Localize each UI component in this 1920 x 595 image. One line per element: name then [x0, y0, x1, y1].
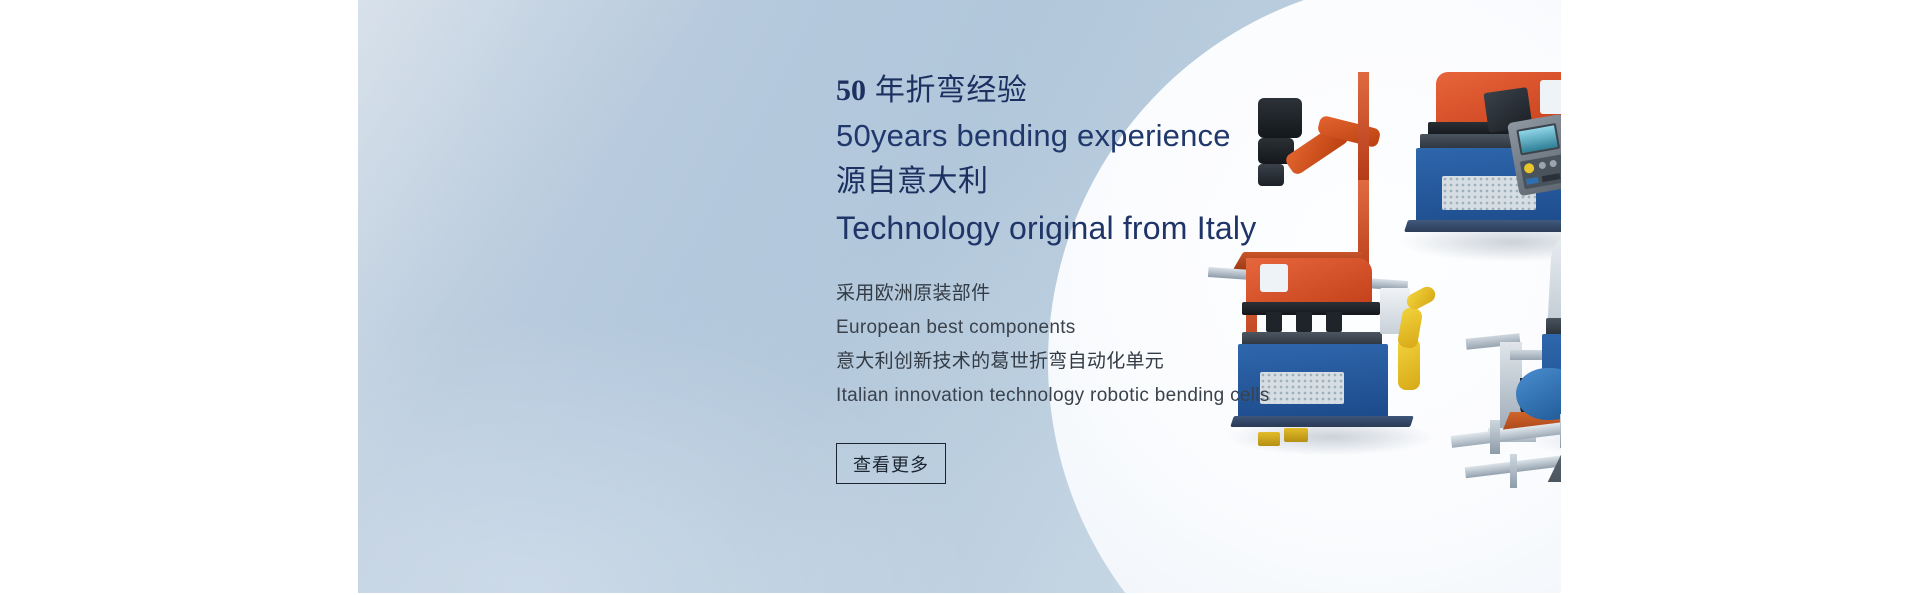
subheadline-block: 采用欧洲原装部件 European best components 意大利创新技…	[836, 277, 1270, 413]
headline-line-2: 50years bending experience	[836, 113, 1270, 159]
subheadline-line-1: 采用欧洲原装部件	[836, 277, 1270, 311]
banner-copy: 50 年折弯经验 50years bending experience 源自意大…	[836, 68, 1270, 484]
hero-banner: GBS-R 100	[358, 0, 1561, 593]
subheadline-line-2: European best components	[836, 311, 1270, 345]
headline-line-4: Technology original from Italy	[836, 205, 1270, 251]
subheadline-line-3: 意大利创新技术的葛世折弯自动化单元	[836, 345, 1270, 379]
headline-line-3: 源自意大利	[836, 159, 1270, 205]
years-number: 50	[836, 74, 866, 107]
view-more-button[interactable]: 查看更多	[836, 443, 946, 484]
headline-line-1: 50 年折弯经验	[836, 68, 1270, 113]
headline-line-1-text: 年折弯经验	[866, 74, 1027, 107]
banner-stage: GBS-R 100	[0, 0, 1920, 595]
subheadline-line-4: Italian innovation technology robotic be…	[836, 379, 1270, 413]
